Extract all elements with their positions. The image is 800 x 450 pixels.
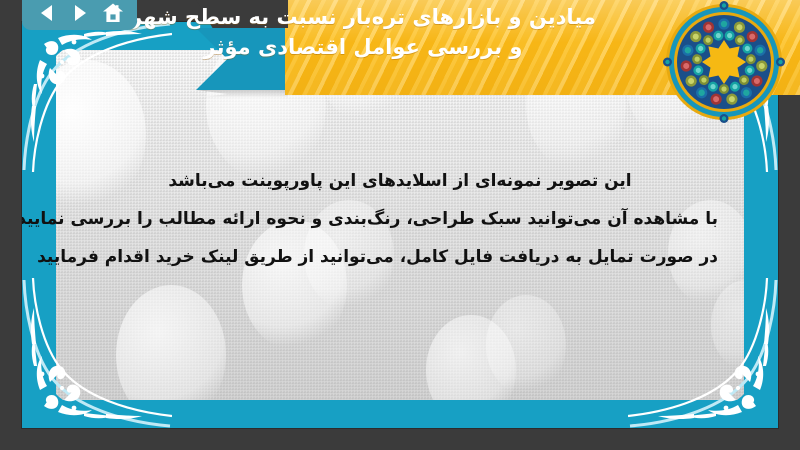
body-line: در صورت تمایل به دریافت فایل کامل، می‌تو… [82,238,718,276]
body-line: این تصویر نمونه‌ای از اسلایدهای این پاور… [82,162,718,200]
home-icon [102,2,124,24]
persian-medallion-icon [663,1,785,123]
bokeh-circle [486,295,566,395]
title-line: و بررسی عوامل اقتصادی مؤثر [18,32,708,62]
prev-button[interactable] [35,1,59,25]
next-button[interactable] [68,1,92,25]
triangle-right-icon [70,3,90,23]
triangle-left-icon [37,3,57,23]
navigation-bar [22,0,137,30]
body-line: با مشاهده آن می‌توانید سبک طراحی، رنگ‌بن… [82,200,718,238]
home-button[interactable] [101,1,125,25]
slide-body-text: این تصویر نمونه‌ای از اسلایدهای این پاور… [82,162,718,276]
